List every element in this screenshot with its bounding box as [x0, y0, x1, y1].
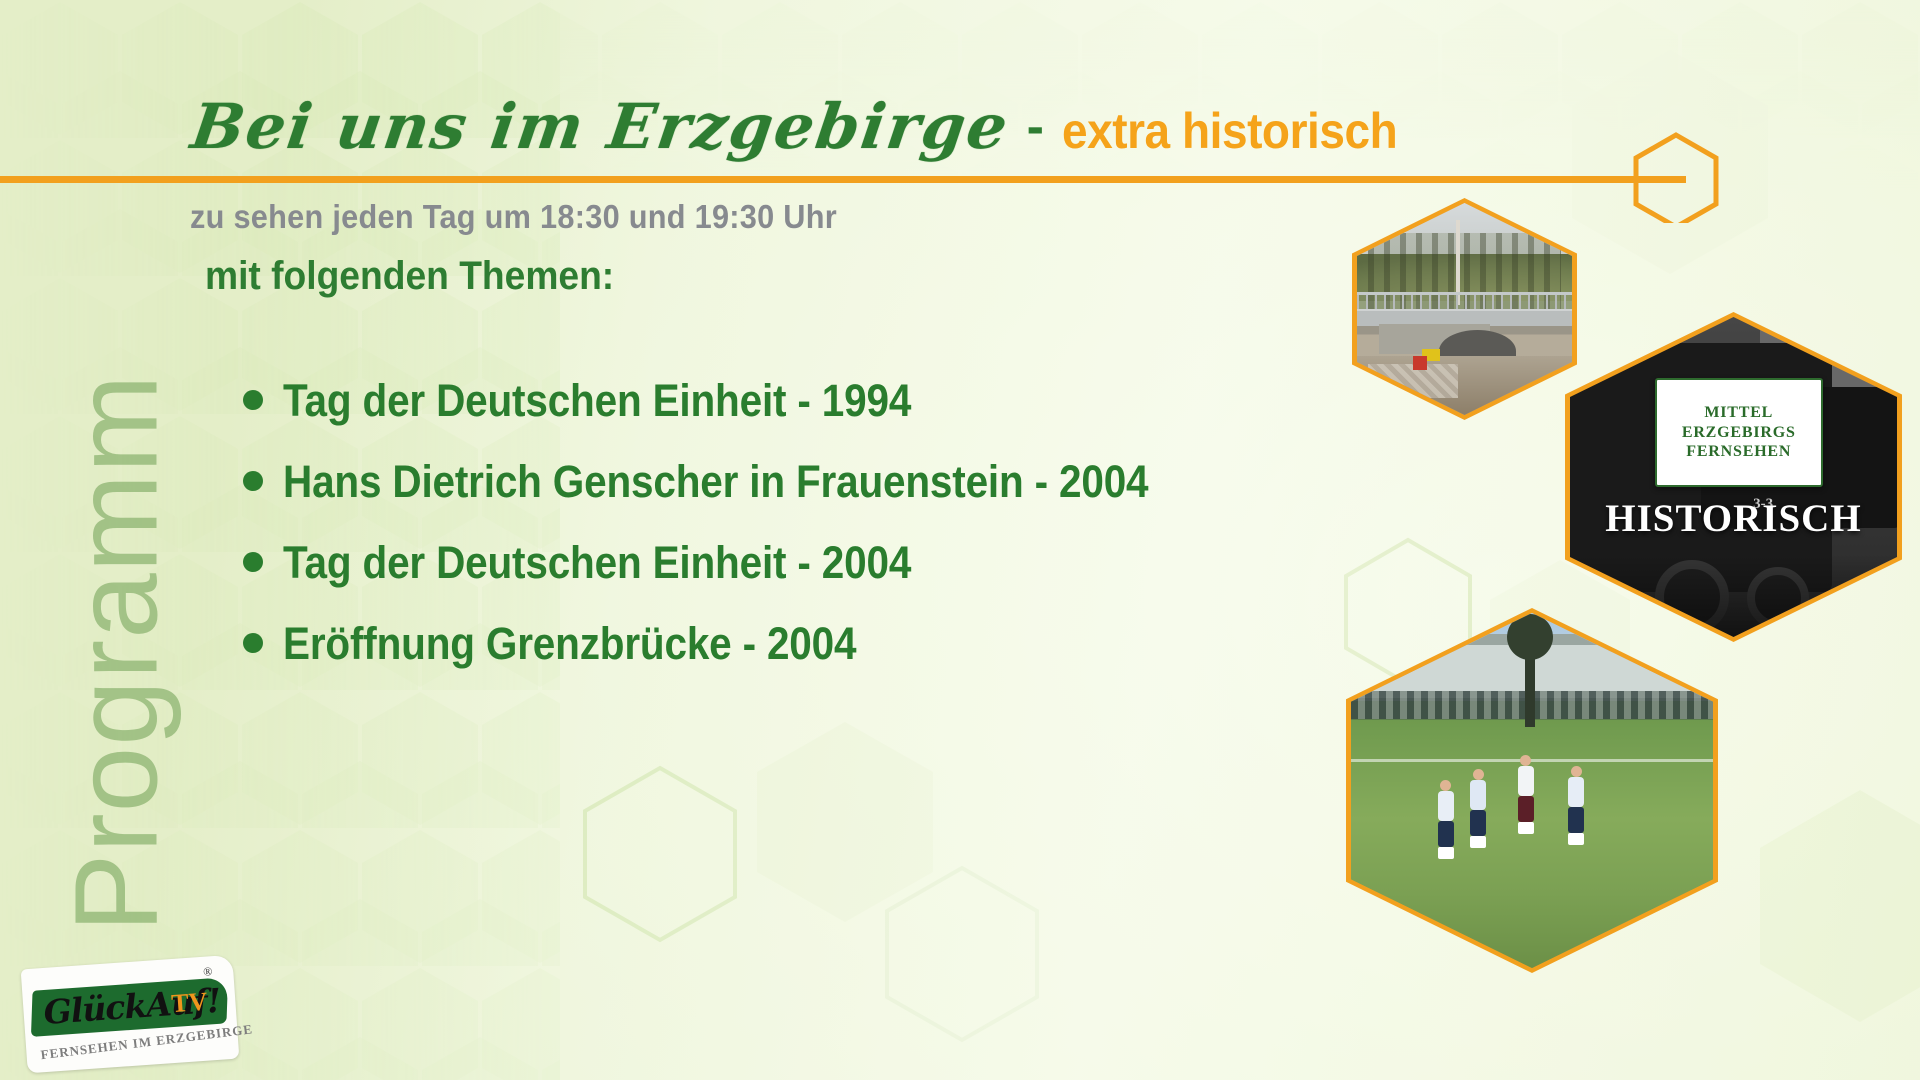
- slide-canvas: Programm Bei uns im Erzgebirge - extra h…: [0, 0, 1920, 1080]
- card-line-1: MITTEL: [1704, 403, 1773, 423]
- topics-list: Tag der Deutschen Einheit - 1994 Hans Di…: [243, 375, 1245, 699]
- historisch-overlay-text: HISTORISCH: [1570, 496, 1897, 541]
- card-line-3: FERNSEHEN: [1686, 442, 1791, 462]
- card-line-2: ERZGEBIRGS: [1682, 423, 1796, 443]
- mittel-erzgebirgs-fernsehen-card: MITTEL ERZGEBIRGS FERNSEHEN: [1655, 378, 1823, 488]
- broadcast-times: zu sehen jeden Tag um 18:30 und 19:30 Uh…: [190, 198, 837, 236]
- logo-registered-mark: ®: [203, 964, 213, 980]
- topic-label: Tag der Deutschen Einheit - 2004: [283, 537, 911, 589]
- football-match-photo: [1351, 613, 1713, 968]
- slide-title: Bei uns im Erzgebirge - extra historisch: [192, 96, 1426, 161]
- hex-photo-frame: [1352, 198, 1577, 420]
- hex-photo-bridge: [1352, 198, 1577, 420]
- player-figure: [1470, 769, 1486, 848]
- list-item: Hans Dietrich Genscher in Frauenstein - …: [243, 456, 1245, 508]
- list-item: Eröffnung Grenzbrücke - 2004: [243, 618, 1245, 670]
- rule-end-hexagon-icon: [1630, 131, 1722, 228]
- list-item: Tag der Deutschen Einheit - 1994: [243, 375, 1245, 427]
- topic-label: Tag der Deutschen Einheit - 1994: [283, 375, 911, 427]
- hex-photo-frame: 3-3 MITTEL ERZGEBIRGS FERNSEHEN HISTORIS…: [1565, 312, 1902, 642]
- logo-tv-text: TV: [170, 987, 208, 1019]
- hex-photo-frame: [1346, 608, 1718, 973]
- topic-label: Hans Dietrich Genscher in Frauenstein - …: [283, 456, 1148, 508]
- player-figure: [1568, 766, 1584, 845]
- title-underline-rule: [0, 176, 1686, 183]
- bullet-dot-icon: [243, 390, 263, 410]
- bullet-dot-icon: [243, 633, 263, 653]
- hex-photo-clip: 3-3 MITTEL ERZGEBIRGS FERNSEHEN HISTORIS…: [1570, 317, 1897, 637]
- list-item: Tag der Deutschen Einheit - 2004: [243, 537, 1245, 589]
- hex-photo-football: [1346, 608, 1718, 973]
- title-highlight-part: extra historisch: [1062, 102, 1397, 160]
- bridge-photo-image: [1357, 203, 1572, 415]
- bullet-dot-icon: [243, 471, 263, 491]
- vertical-section-label: Programm: [48, 374, 184, 933]
- player-figure: [1518, 755, 1534, 834]
- topics-lead-in: mit folgenden Themen:: [205, 254, 614, 299]
- hex-photo-historisch-badge: 3-3 MITTEL ERZGEBIRGS FERNSEHEN HISTORIS…: [1565, 312, 1902, 642]
- topic-label: Eröffnung Grenzbrücke - 2004: [283, 618, 856, 670]
- hex-photo-clip: [1357, 203, 1572, 415]
- player-figure: [1438, 780, 1454, 859]
- title-dash: -: [1009, 97, 1062, 157]
- title-script-part: Bei uns im Erzgebirge: [188, 96, 1013, 158]
- hex-photo-clip: [1351, 613, 1713, 968]
- bullet-dot-icon: [243, 552, 263, 572]
- glueckauf-tv-logo[interactable]: GlückAuf! TV ® FERNSEHEN IM ERZGEBIRGE: [21, 955, 240, 1074]
